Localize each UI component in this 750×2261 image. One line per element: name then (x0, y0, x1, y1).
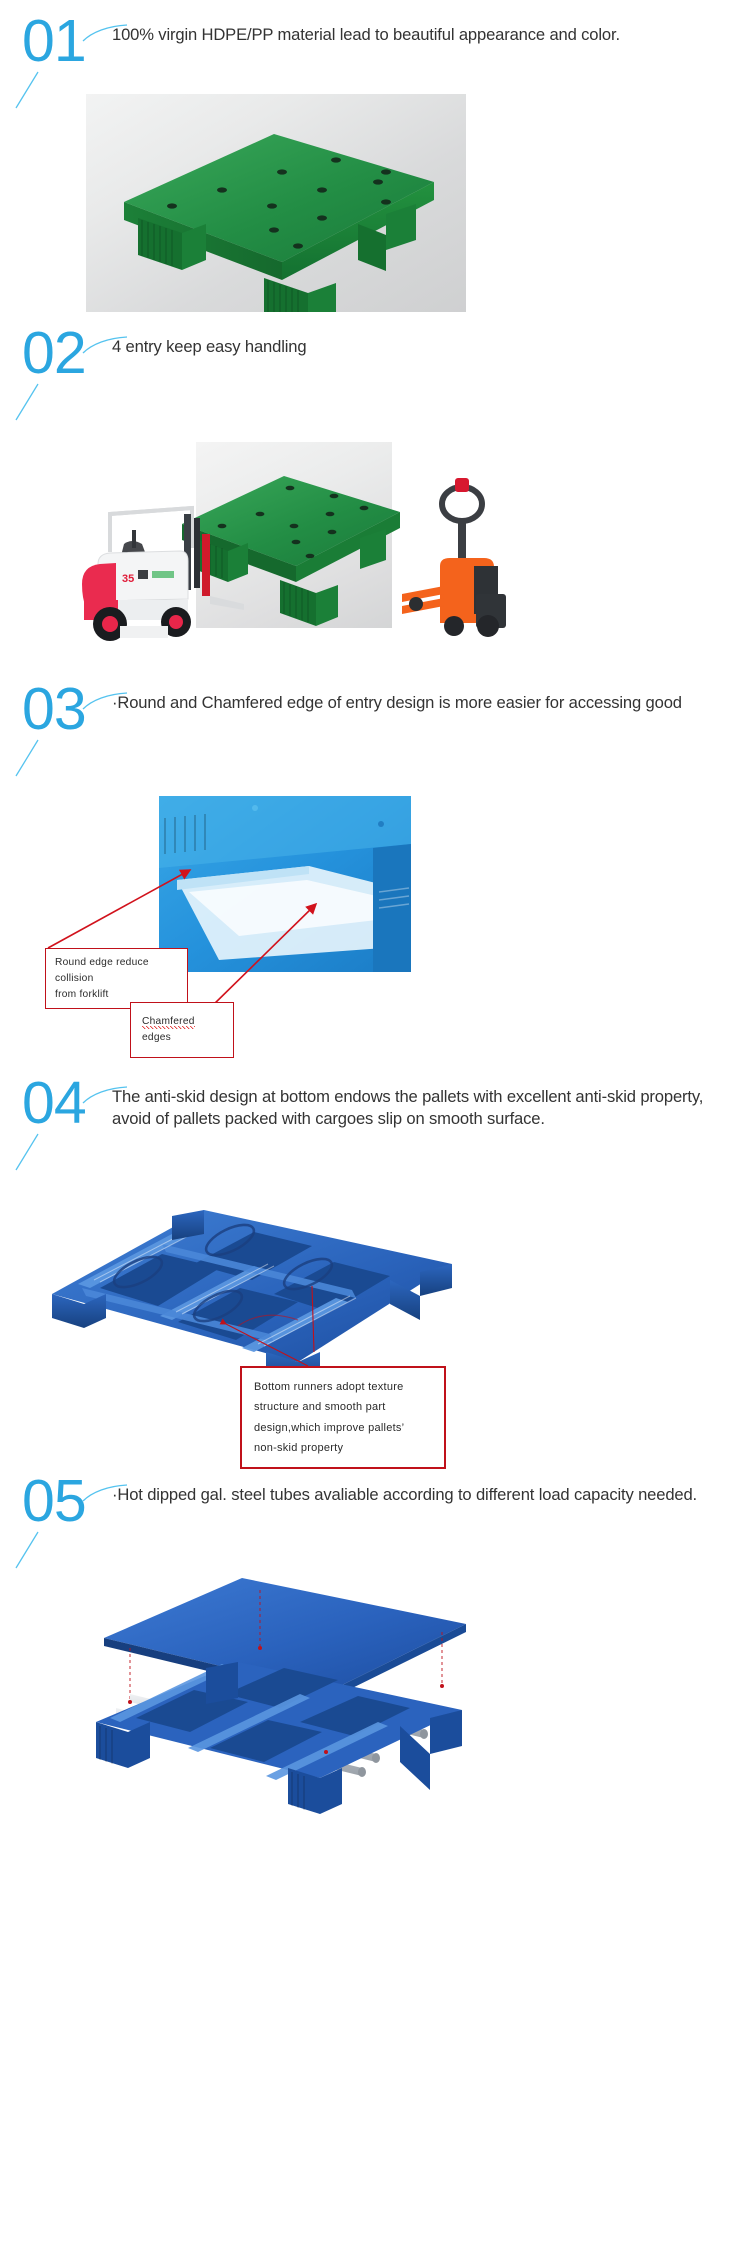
feature-number: 04 (22, 1074, 86, 1133)
decorative-swoosh-icon (82, 336, 128, 354)
product-feature-page: 01 100% virgin HDPE/PP material lead to … (0, 0, 750, 1834)
pallet-jack-illustration (400, 474, 530, 644)
forklift-number-label: 35 (122, 573, 134, 585)
feature-text: 100% virgin HDPE/PP material lead to bea… (112, 18, 750, 46)
feature-section-02: 02 4 entry keep easy handling (0, 312, 750, 664)
feature-section-01: 01 100% virgin HDPE/PP material lead to … (0, 0, 750, 312)
feature-heading-02: 02 4 entry keep easy handling (0, 330, 750, 394)
feature-number-wrap-02: 02 (0, 330, 112, 394)
callout-line: non-skid property (254, 1438, 432, 1458)
decorative-slash-icon (14, 70, 48, 110)
forklift-illustration: 35 (76, 500, 256, 660)
chamfered-edges-callout: Chamfered edges (130, 1002, 234, 1058)
feature-heading-04: 04 The anti-skid design at bottom endows… (0, 1080, 750, 1144)
round-edge-callout: Round edge reduce collision from forklif… (45, 948, 188, 1009)
feature-section-05: 05 ·Hot dipped gal. steel tubes avaliabl… (0, 1460, 750, 1834)
decorative-swoosh-icon (82, 1086, 128, 1104)
feature-heading-03: 03 ·Round and Chamfered edge of entry de… (0, 686, 750, 750)
bottom-runner-leader-lines-icon (190, 1282, 320, 1372)
decorative-slash-icon (14, 738, 48, 778)
callout-line: Round edge reduce collision (55, 955, 178, 987)
chamfered-edge-arrow-icon (200, 896, 340, 1016)
feature-text: 4 entry keep easy handling (112, 330, 750, 358)
feature-heading-05: 05 ·Hot dipped gal. steel tubes avaliabl… (0, 1478, 750, 1542)
feature-heading-01: 01 100% virgin HDPE/PP material lead to … (0, 18, 750, 82)
decorative-swoosh-icon (82, 1484, 128, 1502)
feature-text: ·Hot dipped gal. steel tubes avaliable a… (112, 1478, 750, 1506)
feature-number-wrap-05: 05 (0, 1478, 112, 1542)
forklift-pallet-jack-handling-photo: 35 (0, 424, 750, 664)
feature-number: 01 (22, 12, 86, 71)
decorative-swoosh-icon (82, 692, 128, 710)
feature-text: The anti-skid design at bottom endows th… (112, 1080, 750, 1130)
callout-line: from forklift (55, 987, 178, 1003)
round-edge-arrow-icon (40, 862, 210, 952)
blue-pallet-edge-closeup-photo: Round edge reduce collision from forklif… (0, 784, 750, 1054)
decorative-slash-icon (14, 382, 48, 422)
feature-number: 02 (22, 324, 86, 383)
exploded-pallet-illustration (70, 1572, 500, 1822)
callout-rest: edges (142, 1032, 171, 1043)
feature-text: ·Round and Chamfered edge of entry desig… (112, 686, 750, 714)
callout-line: design,which improve pallets’ (254, 1418, 432, 1438)
feature-number-wrap-04: 04 (0, 1080, 112, 1144)
feature-section-03: 03 ·Round and Chamfered edge of entry de… (0, 664, 750, 1054)
green-plastic-pallet-photo (86, 94, 466, 312)
decorative-swoosh-icon (82, 24, 128, 42)
callout-spellflag-word: Chamfered (142, 1016, 195, 1029)
feature-number: 05 (22, 1472, 86, 1531)
callout-line: structure and smooth part (254, 1397, 432, 1417)
feature-number: 03 (22, 680, 86, 739)
blue-pallet-bottom-runner-render: Bottom runners adopt texture structure a… (0, 1170, 750, 1460)
feature-section-04: 04 The anti-skid design at bottom endows… (0, 1054, 750, 1460)
blue-pallet-steel-tube-exploded-render (0, 1564, 750, 1834)
feature-number-wrap-03: 03 (0, 686, 112, 750)
decorative-slash-icon (14, 1132, 48, 1172)
callout-line: Bottom runners adopt texture (254, 1377, 432, 1397)
feature-number-wrap-01: 01 (0, 18, 112, 82)
bottom-runner-callout: Bottom runners adopt texture structure a… (240, 1366, 446, 1469)
